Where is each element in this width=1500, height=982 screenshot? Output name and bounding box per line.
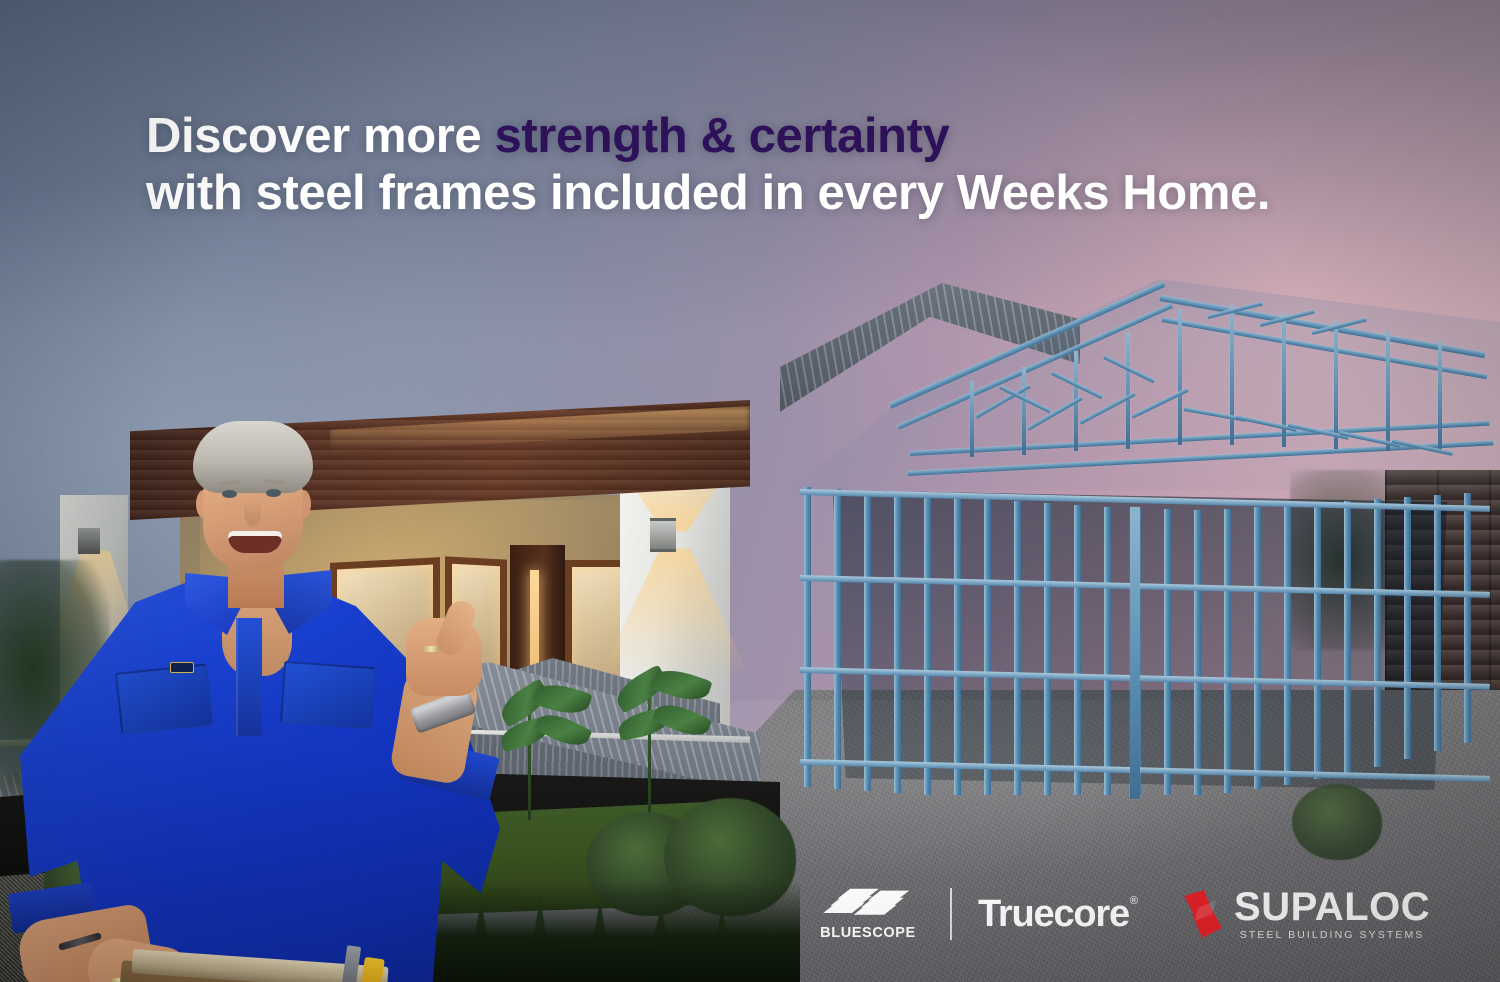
shirt-pocket-left: [115, 663, 213, 734]
headline-line-1-plain: Discover more: [146, 109, 494, 163]
eye-right: [266, 489, 281, 497]
mouth-smiling: [228, 531, 282, 553]
supaloc-logo: SUPALOC STEEL BUILDING SYSTEMS: [1182, 888, 1430, 941]
presenter-figure: [0, 418, 520, 982]
bluescope-logo: BLUESCOPE: [812, 887, 924, 941]
steel-frame-structure: [790, 275, 1500, 795]
headline-line-2: with steel frames included in every Week…: [146, 165, 1270, 222]
banner-image: Discover more strength & certainty with …: [0, 0, 1500, 982]
truecore-wordmark: Truecore: [978, 893, 1129, 936]
ring-right: [424, 646, 439, 652]
wall-light-right: [650, 518, 676, 552]
nose: [244, 500, 261, 526]
supaloc-wordmark: SUPALOC: [1234, 888, 1430, 926]
truecore-logo: Truecore ®: [978, 893, 1138, 936]
headline: Discover more strength & certainty with …: [146, 108, 1270, 223]
hair: [193, 421, 313, 493]
eye-left: [222, 490, 237, 498]
supaloc-tagline: STEEL BUILDING SYSTEMS: [1234, 929, 1430, 941]
corner-post: [1130, 507, 1140, 799]
logo-divider: [950, 888, 952, 940]
brand-tag: [170, 662, 194, 673]
supaloc-mark-icon: [1182, 888, 1230, 940]
logo-bar: BLUESCOPE Truecore ® SUPALOC STEEL BUILD…: [812, 880, 1430, 948]
bluescope-wordmark: BLUESCOPE: [820, 925, 916, 941]
shirt-placket: [236, 618, 262, 736]
shirt-pocket-right: [280, 661, 376, 729]
headline-line-1: Discover more strength & certainty: [146, 108, 1270, 165]
supaloc-text-block: SUPALOC STEEL BUILDING SYSTEMS: [1234, 888, 1430, 941]
bluescope-wave-icon: [822, 887, 914, 921]
truecore-registered-icon: ®: [1130, 895, 1138, 907]
headline-line-1-accent: strength & certainty: [494, 109, 949, 163]
